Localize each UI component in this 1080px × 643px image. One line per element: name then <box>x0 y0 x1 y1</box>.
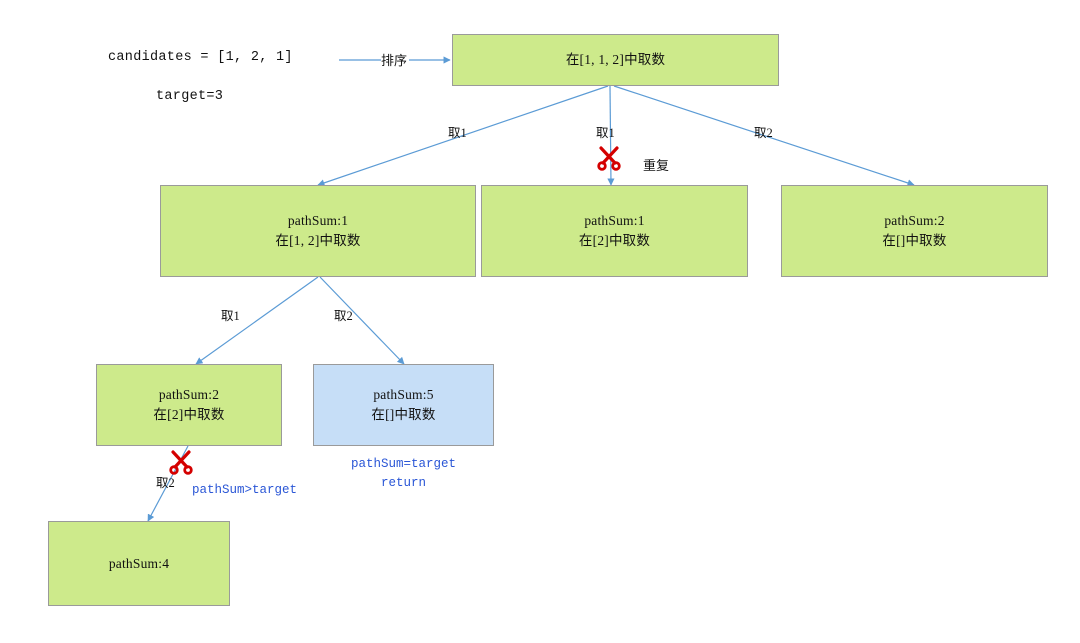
node-level1-right[interactable]: pathSum:2 在[]中取数 <box>781 185 1048 277</box>
annotation-pathsum-eq-target: pathSum=target return <box>313 455 494 493</box>
edge-label-l1-left: 取1 <box>221 305 240 324</box>
node-level3-left[interactable]: pathSum:4 <box>48 521 230 606</box>
node-level2-right[interactable]: pathSum:5 在[]中取数 <box>313 364 494 446</box>
node-level1-middle-line-1: pathSum:1 <box>584 211 644 231</box>
edge-l1-left <box>196 277 318 364</box>
edge-label-sort: 排序 <box>381 50 407 69</box>
node-level2-left-line-1: pathSum:2 <box>159 385 219 405</box>
edge-label-l1-right: 取2 <box>334 305 353 324</box>
edge-label-root-right: 取2 <box>754 122 773 141</box>
node-level1-left-line-1: pathSum:1 <box>288 211 348 231</box>
node-level1-left[interactable]: pathSum:1 在[1, 2]中取数 <box>160 185 476 277</box>
scissors-icon <box>168 450 194 476</box>
diagram-canvas: candidates = [1, 2, 1] target=3 排序 在[1, … <box>0 0 1080 643</box>
edge-label-root-middle: 取1 <box>596 122 615 141</box>
node-level1-right-line-2: 在[]中取数 <box>882 231 946 251</box>
node-level2-right-line-2: 在[]中取数 <box>371 405 435 425</box>
node-level1-left-line-2: 在[1, 2]中取数 <box>275 231 360 251</box>
node-level2-right-line-1: pathSum:5 <box>373 385 433 405</box>
scissors-icon <box>596 146 622 172</box>
target-text: target=3 <box>156 89 223 104</box>
edge-l1-right <box>320 277 404 364</box>
node-level3-left-line-1: pathSum:4 <box>109 554 169 574</box>
annotation-duplicate: 重复 <box>643 155 669 174</box>
node-level1-right-line-1: pathSum:2 <box>884 211 944 231</box>
node-level1-middle-line-2: 在[2]中取数 <box>579 231 650 251</box>
node-level2-left[interactable]: pathSum:2 在[2]中取数 <box>96 364 282 446</box>
node-level1-middle[interactable]: pathSum:1 在[2]中取数 <box>481 185 748 277</box>
edge-label-root-left: 取1 <box>448 122 467 141</box>
node-root[interactable]: 在[1, 1, 2]中取数 <box>452 34 779 86</box>
annotation-pathsum-gt-target: pathSum>target <box>192 481 297 500</box>
node-level2-left-line-2: 在[2]中取数 <box>153 405 224 425</box>
node-root-line-1: 在[1, 1, 2]中取数 <box>566 50 665 70</box>
candidates-text: candidates = [1, 2, 1] <box>108 50 293 65</box>
